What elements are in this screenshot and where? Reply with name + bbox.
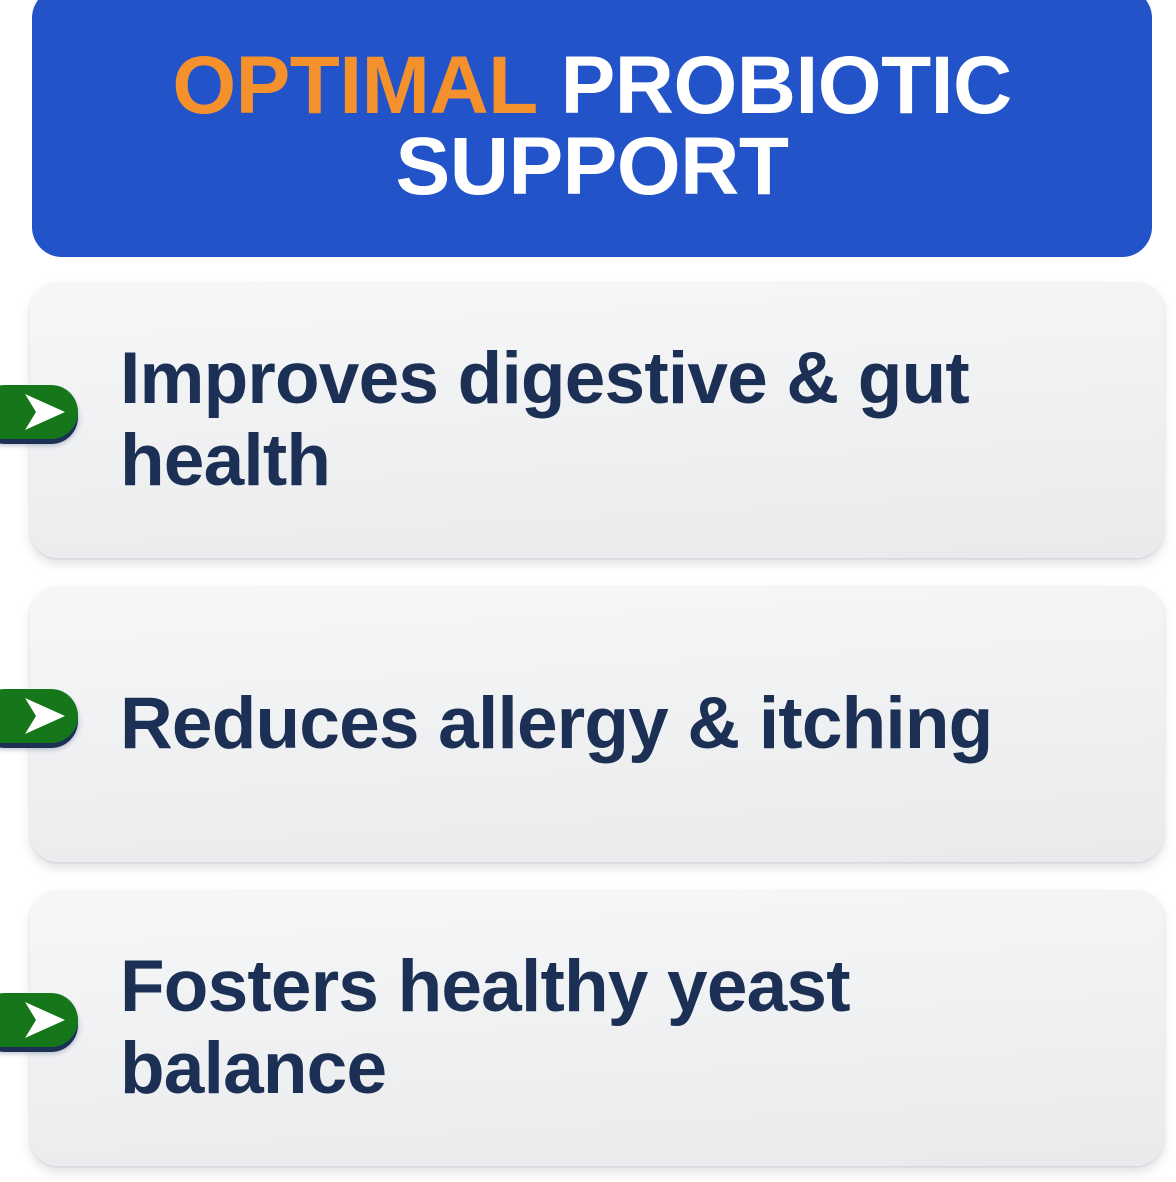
page-title: OPTIMAL PROBIOTIC SUPPORT: [54, 46, 1130, 207]
benefit-text: Fosters healthy yeast balance: [30, 946, 1164, 1110]
header-banner: OPTIMAL PROBIOTIC SUPPORT: [32, 0, 1152, 257]
green-chevron-arrow-icon: [0, 993, 78, 1047]
title-accent-word: OPTIMAL: [172, 40, 536, 131]
benefit-card: Reduces allergy & itching: [30, 586, 1164, 862]
green-chevron-arrow-icon: [0, 385, 78, 439]
green-chevron-arrow-icon: [0, 689, 78, 743]
benefit-text: Reduces allergy & itching: [30, 683, 1026, 765]
probiotic-benefits-infographic: OPTIMAL PROBIOTIC SUPPORT Improves diges…: [0, 0, 1176, 1182]
benefit-card: Improves digestive & gut health: [30, 282, 1164, 558]
benefit-text: Improves digestive & gut health: [30, 338, 1164, 502]
benefit-card: Fosters healthy yeast balance: [30, 890, 1164, 1166]
